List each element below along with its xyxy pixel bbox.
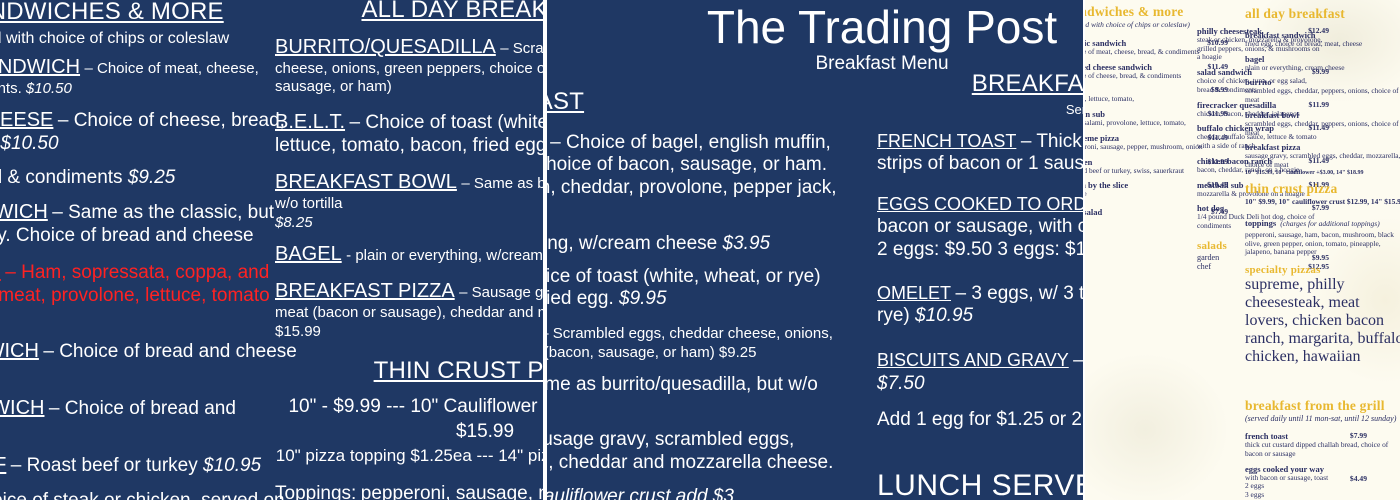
menu-item: EGGS COOKED TO ORDER – 2 or 3 eggs, with… (877, 194, 1085, 261)
menu-item: PB&J SANDWICH – Choice of bread and chee… (0, 397, 300, 443)
printed-item: breakfast bowl scrambled eggs, cheddar, … (1245, 110, 1400, 137)
menu-item: BREAKFAST SANDWICH – Choice of bagel, en… (547, 132, 837, 222)
item-price: $7.99 (1350, 431, 1367, 440)
menu-screenshot-stage: SANDWICHES & MORE Served with choice of … (0, 0, 1400, 500)
item-desc: – Same as burrito/quesadilla, but w/o to… (547, 374, 818, 417)
menu-item: BREAKFAST PIZZA – Sausage gravy, scrambl… (547, 429, 837, 474)
menu-item: FRENCH TOAST – Thick cut challah bread, … (877, 131, 1085, 176)
menu-item: BURRITO/QUESADILLA – Scrambled eggs, che… (275, 36, 543, 97)
printed-item: burrito scrambled eggs, cheddar, peppers… (1245, 77, 1400, 104)
printed-heading-sandwiches: sandwiches & more (1085, 4, 1232, 20)
item-desc: – Choice of tChoice of toast (white, whe… (547, 266, 821, 309)
menu-item: HAM SANDWICH – Choice of bread and chees… (0, 340, 300, 386)
item-desc: thick cut custard dipped challah bread, … (1245, 441, 1400, 458)
item-desc: – Ham, sopressata, coppa, and genoa sala… (0, 262, 270, 328)
pizza-price-line-2: 10" pizza topping $1.25ea --- 14" pizza … (275, 445, 543, 467)
section-heading-all-day-breakfast: ALL DAY BREAKFAST (275, 0, 543, 24)
item-name: BISCUITS AND GRAVY (877, 350, 1069, 370)
section-heading-breakfast-off-the-grill: BREAKFAST OFF THE GRILL (877, 70, 1085, 98)
item-option: 2 eggs (1245, 482, 1400, 491)
item-desc: – Choice of bread and cheese $9.95 (0, 341, 297, 385)
section-heading-thin-crust-pizza: THIN CRUST PIZZA (275, 357, 543, 385)
breakfast-off-the-grill-column: BREAKFAST OFF THE GRILL Served until 12:… (877, 70, 1085, 500)
item-price-fine: 10" $15.99, 10" cauliflower +$3.00, 14" … (1245, 170, 1400, 176)
sandwiches-subheading: Served with choice of chips or coleslaw (0, 30, 300, 48)
item-name: BURRITO/QUESADILLA (275, 36, 496, 58)
toppings-list: pepperoni, sausage, ham, bacon, mushroom… (1245, 231, 1400, 257)
slide-b-page: The Trading Post Breakfast Menu ALL DAY … (547, 0, 1085, 500)
item-name: B.E.L.T. (275, 111, 345, 133)
item-name: GRILLED CHEESE (0, 109, 53, 131)
breakfast-pizza-price: 10" $15.99 14" $18.99 Cauliflower crust … (547, 485, 837, 500)
item-price: $8.25 (275, 214, 543, 232)
item-desc: - plain or everything, w/cream cheese $3… (346, 247, 543, 264)
item-name: BREAKFAST PIZZA (275, 280, 455, 302)
sandwiches-column: SANDWICHES & MORE Served with choice of … (0, 0, 300, 500)
add-egg-note: Add 1 egg for $1.25 or 2 for $2.50 (877, 408, 1085, 433)
printed-item: bagel plain or everything, cream cheese (1245, 54, 1400, 73)
menu-item: BAGEL - plain or everything, w/cream che… (275, 243, 543, 267)
slide-a-page: SANDWICHES & MORE Served with choice of … (0, 0, 543, 500)
slide-divider-2 (1083, 0, 1085, 500)
item-name: CLUB SANDWICH (0, 201, 48, 223)
restaurant-title: The Trading Post (547, 4, 1085, 51)
item-desc: – Roast beef or turkey $10.95 (11, 455, 261, 476)
lunch-served-banner: LUNCH SERVED ALL DAY (877, 469, 1085, 500)
item-price: $7.50 (877, 372, 1085, 397)
item-name: BREAKFAST BOWL (275, 171, 457, 193)
printed-heading-all-day-breakfast: all day breakfast (1245, 6, 1400, 22)
printed-item: $7.99 french toast thick cut custard dip… (1245, 431, 1400, 458)
item-desc: – Scrambled eggs, cheddar cheese, onions… (547, 325, 833, 361)
printed-pizza-price: 10" $9.99, 10" cauliflower crust $12.99,… (1245, 197, 1400, 206)
section-heading-sandwiches: SANDWICHES & MORE (0, 0, 300, 26)
menu-item: B.E.L.T. – Choice of toast (white, wheat… (275, 111, 543, 157)
item-desc: scrambled eggs, cheddar, peppers, onions… (1245, 87, 1400, 104)
menu-item: BREAKFAST PIZZA – Sausage gravy, scrambl… (275, 280, 543, 341)
grill-serving-note: Served until 12:00p daily (877, 102, 1085, 117)
item-name: CLASSIC SANDWICH (0, 56, 80, 78)
item-name: PB&J SANDWICH (0, 397, 44, 419)
specialty-list: supreme, philly cheesesteak, meat lovers… (1245, 276, 1400, 366)
slide-trading-post-breakfast[interactable]: The Trading Post Breakfast Menu ALL DAY … (547, 0, 1085, 500)
item-name: ITALIAN SUB (0, 261, 1, 283)
item-name: HAM SANDWICH (0, 340, 39, 362)
section-heading-all-day-breakfast: ALL DAY BREAKFAST (547, 88, 837, 116)
printed-item: breakfast pizza sausage gravy, scrambled… (1245, 142, 1400, 175)
menu-item: PHILLY – Choice of steak or chicken, ser… (0, 489, 300, 500)
item-desc: – Choice of bagel, english muffin, or cr… (547, 132, 837, 220)
center-all-day-breakfast-column: ALL DAY BREAKFAST BREAKFAST SANDWICH – C… (547, 88, 837, 500)
printed-breakfast-column: all day breakfast breakfast sandwich fri… (1245, 6, 1400, 500)
menu-item: BREAKFAST BOWL – Same as burrito/quesadi… (547, 374, 837, 419)
menu-item: CLUB SANDWICH – Same as the classic, but… (0, 201, 300, 247)
item-desc: – Sausage gravy, scrambled eggs, meat (b… (547, 429, 833, 472)
slide-divider-1 (543, 0, 547, 500)
toppings-block: Toppings: pepperoni, sausage, mushroom, … (275, 483, 543, 500)
menu-item: BISCUITS AND GRAVY – 2 biscuits with sau… (877, 350, 1085, 397)
menu-item: BREAKFAST BOWL – Same as burrito/quesadi… (275, 171, 543, 231)
menu-item: B.E.L.T. – Choice of tChoice of toast (w… (547, 266, 837, 311)
all-day-breakfast-column: ALL DAY BREAKFAST BURRITO/QUESADILLA – S… (275, 0, 543, 500)
menu-item: OMELET – 3 eggs, w/ 3 toppings, cheese, … (877, 283, 1085, 328)
item-desc: – Choice of steak or chicken, served on … (0, 490, 285, 500)
grill-serving-note: (served daily until 11 mon-sat, until 12… (1245, 414, 1400, 423)
item-name: ROAST BEEF (0, 454, 6, 476)
menu-item: GRILLED CHEESE – Choice of cheese, bread… (0, 109, 300, 155)
menu-item: BURRITO/QUESADILLA – Scrambled eggs, che… (547, 322, 837, 363)
toppings-note: (charges for additional toppings) (1280, 219, 1380, 228)
item-name: BAGEL (275, 243, 342, 265)
printed-menu-panel[interactable]: sandwiches & more (served with choice of… (1085, 0, 1400, 500)
item-desc: plain or everything, cream cheese (1245, 64, 1400, 73)
item-name: FRENCH TOAST (877, 131, 1016, 151)
printed-item: $4.49 eggs cooked your way with bacon or… (1245, 464, 1400, 500)
item-desc: – Bread & condiments $9.25 (0, 167, 175, 188)
menu-item-highlighted: ITALIAN SUB – Ham, sopressata, coppa, an… (0, 261, 300, 329)
item-option: 3 eggs (1245, 491, 1400, 500)
pizza-price-line-1: 10" - $9.99 --- 10" Cauliflower - $12.99… (275, 395, 543, 444)
item-desc: fried egg, choice of bread, meat, cheese (1245, 40, 1400, 49)
item-desc: scrambled eggs, cheddar, peppers, onions… (1245, 120, 1400, 137)
toppings-label: toppings (1245, 218, 1276, 228)
toppings-label: Toppings: (275, 483, 356, 500)
brand-header: The Trading Post Breakfast Menu (547, 4, 1085, 75)
slide-sandwiches-and-breakfast[interactable]: SANDWICHES & MORE Served with choice of … (0, 0, 543, 500)
item-desc: sausage gravy, scrambled eggs, cheddar, … (1245, 152, 1400, 169)
menu-item: CLASSIC SANDWICH – Choice of meat, chees… (0, 56, 300, 98)
item-desc: with bacon or sausage, toast (1245, 474, 1400, 483)
printed-toppings-block: toppings (charges for additional topping… (1245, 213, 1400, 257)
menu-item: ROAST BEEF – Roast beef or turkey $10.95 (0, 454, 300, 478)
printed-heading-breakfast-from-the-grill: breakfast from the grill (1245, 398, 1400, 414)
menu-item: B.L.T. – Bread & condiments $9.25 (0, 166, 300, 190)
menu-item: BAGEL - plain or everything, w/cream che… (547, 233, 837, 255)
item-name: OMELET (877, 283, 951, 303)
printed-item: breakfast sandwich fried egg, choice of … (1245, 30, 1400, 49)
printed-heading-thin-crust-pizza: thin crust pizza (1245, 181, 1400, 197)
item-desc: - plain or everything, w/cream cheese $3… (547, 233, 770, 254)
printed-heading-specialty-pizzas: specialty pizzas (1245, 264, 1400, 276)
item-name: EGGS COOKED TO ORDER (877, 194, 1085, 214)
item-price: $4.49 (1350, 474, 1367, 483)
